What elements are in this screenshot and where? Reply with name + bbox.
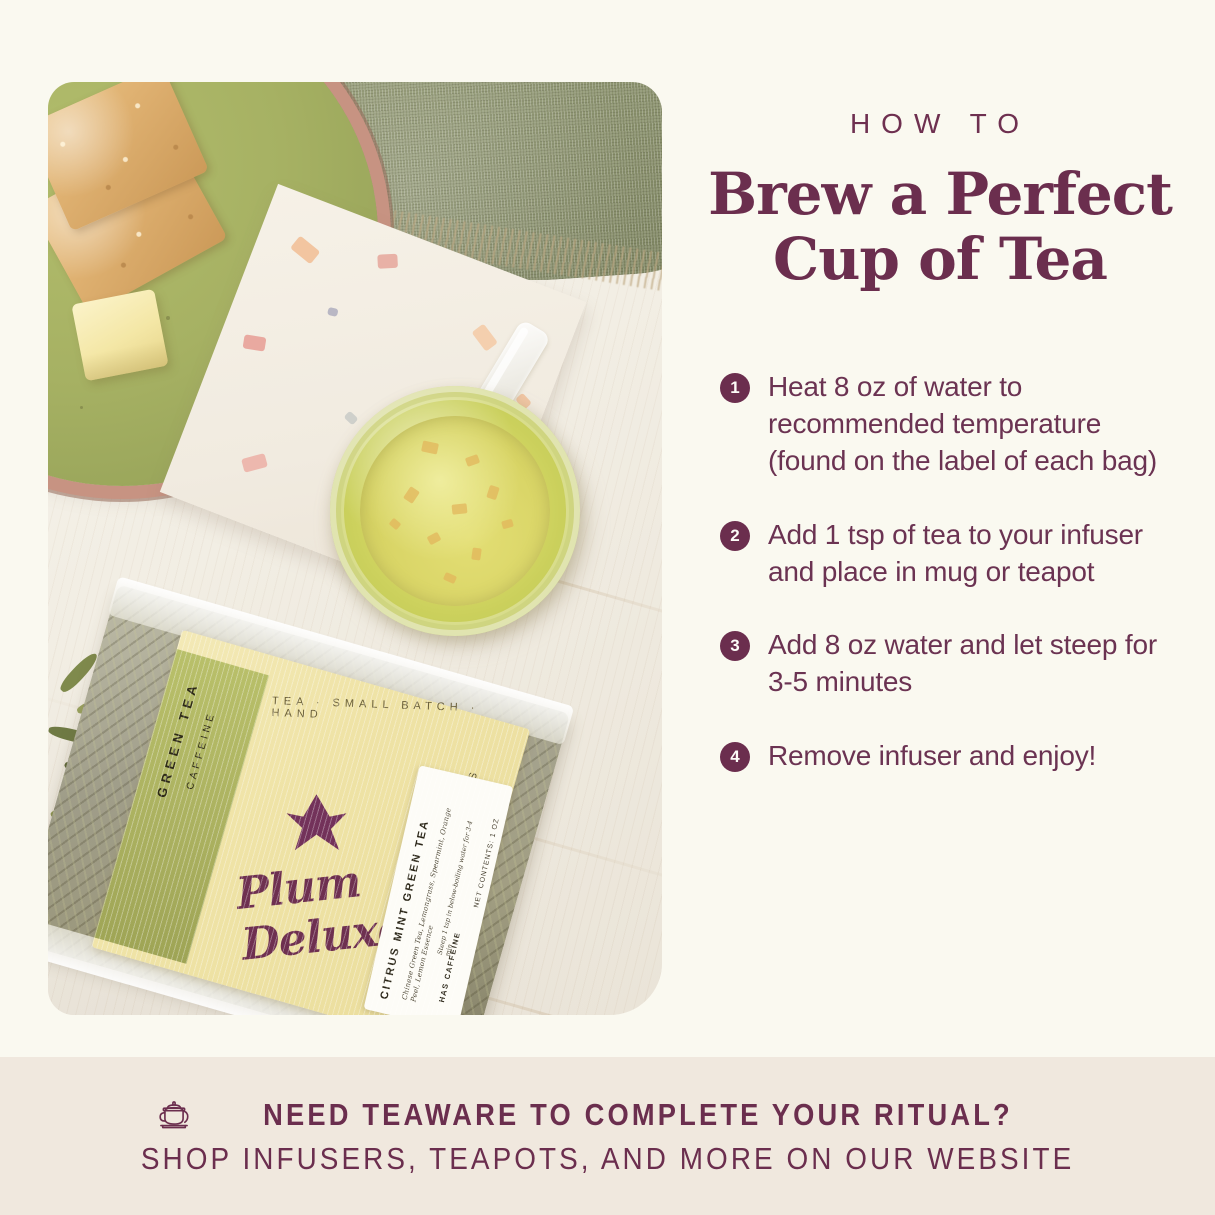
- footer-subline: SHOP INFUSERS, TEAPOTS, AND MORE ON OUR …: [141, 1141, 1074, 1177]
- has-caffeine-text: HAS CAFFEINE: [437, 915, 466, 1003]
- cheese-cube: [71, 289, 168, 382]
- step-number-badge: 1: [720, 373, 750, 403]
- brewed-green-tea: [360, 416, 550, 606]
- headline-line-1: Brew a Perfect: [708, 160, 1172, 228]
- step-text: Add 8 oz water and let steep for 3-5 min…: [768, 626, 1185, 700]
- step-number-badge: 3: [720, 631, 750, 661]
- step-text: Add 1 tsp of tea to your infuser and pla…: [768, 516, 1185, 590]
- tea-photo-card: GREEN TEA CAFFEINE TEA · SMALL BATCH · H…: [48, 82, 662, 1015]
- pouch-arc-text: TEA · SMALL BATCH · HAND: [269, 695, 492, 793]
- brand-name: Plum Deluxe: [234, 845, 479, 971]
- step-text: Remove infuser and enjoy!: [768, 737, 1096, 774]
- footer-cta-band: NEED TEAWARE TO COMPLETE YOUR RITUAL? SH…: [0, 1057, 1215, 1215]
- step-number-badge: 2: [720, 521, 750, 551]
- headline-line-2: Cup of Tea: [773, 225, 1107, 293]
- eyebrow-label: HOW TO: [700, 108, 1180, 140]
- blend-name: CITRUS MINT GREEN TEA: [378, 782, 440, 1001]
- page-title: Brew a Perfect Cup of Tea: [700, 162, 1180, 292]
- poster-canvas: GREEN TEA CAFFEINE TEA · SMALL BATCH · H…: [0, 0, 1215, 1215]
- ingredients-text: Chinese Green Tea, Lemongrass, Spearmint…: [401, 790, 471, 1003]
- step-number-badge: 4: [720, 742, 750, 772]
- photo-scene: GREEN TEA CAFFEINE TEA · SMALL BATCH · H…: [48, 82, 662, 1015]
- teapot-icon: [152, 1095, 196, 1135]
- steep-instructions-text: Steep 1 tsp in below-boiling water for 3…: [436, 807, 485, 957]
- list-item: 1 Heat 8 oz of water to recommended temp…: [720, 368, 1185, 480]
- footer-headline: NEED TEAWARE TO COMPLETE YOUR RITUAL?: [263, 1097, 1013, 1133]
- list-item: 2 Add 1 tsp of tea to your infuser and p…: [720, 516, 1185, 590]
- footer-line-1: NEED TEAWARE TO COMPLETE YOUR RITUAL?: [152, 1095, 1064, 1135]
- pouch-tagline: HAND BLENDED TEAS: [414, 766, 481, 964]
- steps-list: 1 Heat 8 oz of water to recommended temp…: [720, 368, 1185, 810]
- step-text: Heat 8 oz of water to recommended temper…: [768, 368, 1185, 480]
- instructions-column: HOW TO Brew a Perfect Cup of Tea 1 Heat …: [700, 0, 1200, 1057]
- list-item: 4 Remove infuser and enjoy!: [720, 737, 1185, 774]
- glass-tea-cup: [330, 386, 580, 636]
- pouch-caffeine-text: CAFFEINE: [185, 710, 218, 791]
- plum-leaf-logo-icon: [286, 794, 346, 850]
- list-item: 3 Add 8 oz water and let steep for 3-5 m…: [720, 626, 1185, 700]
